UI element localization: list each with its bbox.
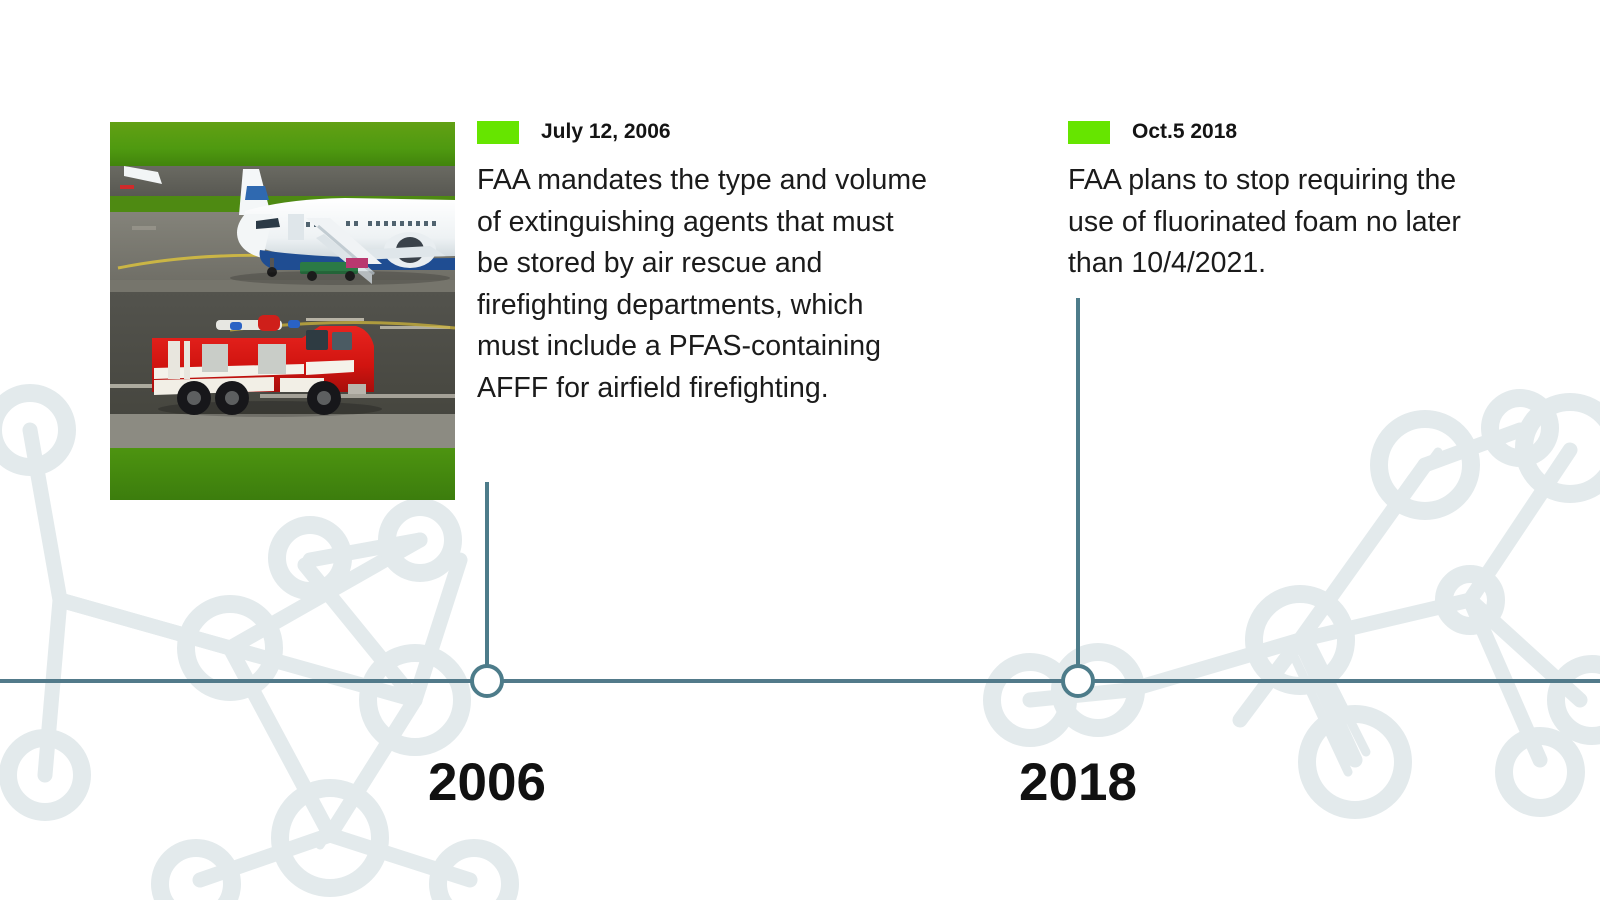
event-header-2006: July 12, 2006 bbox=[477, 118, 927, 146]
event-description-2018: FAA plans to stop requiring the use of f… bbox=[1068, 160, 1498, 285]
year-label-2018: 2018 bbox=[1019, 752, 1137, 813]
event-connector-2006 bbox=[485, 482, 489, 680]
timeline-axis bbox=[0, 679, 1600, 683]
green-marker-swatch bbox=[477, 121, 519, 144]
green-marker-swatch bbox=[1068, 121, 1110, 144]
event-description-2006: FAA mandates the type and volume of exti… bbox=[477, 160, 927, 409]
event-date-2018: Oct.5 2018 bbox=[1132, 120, 1237, 144]
year-label-2006: 2006 bbox=[428, 752, 546, 813]
timeline-infographic: July 12, 2006 FAA mandates the type and … bbox=[0, 0, 1600, 900]
event-block-2018: Oct.5 2018 FAA plans to stop requiring t… bbox=[1068, 118, 1498, 285]
event-photo-2006 bbox=[110, 122, 455, 500]
timeline-node-2006[interactable] bbox=[470, 664, 504, 698]
event-header-2018: Oct.5 2018 bbox=[1068, 118, 1498, 146]
event-date-2006: July 12, 2006 bbox=[541, 120, 671, 144]
event-connector-2018 bbox=[1076, 298, 1080, 680]
event-block-2006: July 12, 2006 FAA mandates the type and … bbox=[477, 118, 927, 409]
timeline-node-2018[interactable] bbox=[1061, 664, 1095, 698]
